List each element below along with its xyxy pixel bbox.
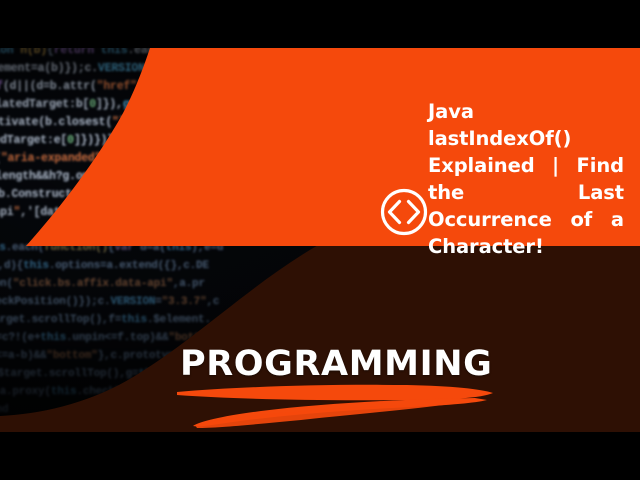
category-label-wrap: PROGRAMMING bbox=[180, 344, 492, 384]
title-block: Java lastIndexOf() Explained | Find the … bbox=[428, 98, 624, 260]
category-label: PROGRAMMING bbox=[180, 344, 492, 384]
letterbox-bottom bbox=[0, 432, 640, 480]
code-brackets-icon bbox=[379, 187, 429, 237]
brush-stroke-underline bbox=[175, 380, 495, 432]
video-title: Java lastIndexOf() Explained | Find the … bbox=[428, 98, 624, 260]
artwork-band: ction h(b){return this.each(func element… bbox=[0, 48, 640, 432]
letterbox-top bbox=[0, 0, 640, 48]
youtube-thumbnail: ction h(b){return this.each(func element… bbox=[0, 0, 640, 480]
